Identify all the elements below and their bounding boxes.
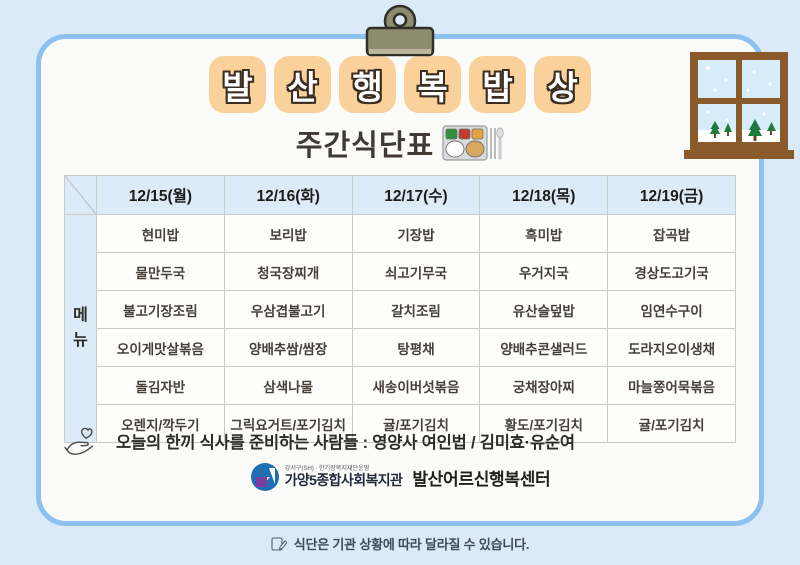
menu-cell: 양배추콘샐러드 xyxy=(480,329,608,367)
menu-cell: 궁채장아찌 xyxy=(480,367,608,405)
column-header-wed: 12/17(수) xyxy=(352,176,480,215)
title-char-6: 상 xyxy=(534,56,591,113)
menu-cell: 새송이버섯볶음 xyxy=(352,367,480,405)
poster-subtitle-row: 주간식단표 xyxy=(36,122,764,164)
title-char-4: 복 xyxy=(404,56,461,113)
title-char-1: 발 xyxy=(209,56,266,113)
table-corner-cell xyxy=(65,176,97,215)
title-char-5: 밥 xyxy=(469,56,526,113)
poster-subtitle: 주간식단표 xyxy=(296,122,434,164)
title-char-2: 산 xyxy=(274,56,331,113)
menu-cell: 청국장찌개 xyxy=(224,253,352,291)
pencil-edit-icon xyxy=(271,536,287,552)
menu-cell: 현미밥 xyxy=(97,215,225,253)
menu-cell: 양배추쌈/쌈장 xyxy=(224,329,352,367)
table-row: 메 뉴 현미밥 보리밥 기장밥 흑미밥 잡곡밥 xyxy=(65,215,736,253)
menu-cell: 우거지국 xyxy=(480,253,608,291)
menu-poster: 발 산 행 복 밥 상 주간식단표 xyxy=(0,0,800,565)
menu-cell: 잡곡밥 xyxy=(608,215,736,253)
title-char-3: 행 xyxy=(339,56,396,113)
preparers-text: 오늘의 한끼 식사를 준비하는 사람들 : 영양사 여인법 / 김미효·유순여 xyxy=(116,429,575,453)
menu-cell: 마늘쫑어묵볶음 xyxy=(608,367,736,405)
organization-line: 강서구(SH) · 한기장복지재단운영 가양5종합사회복지관 발산어르신행복센터 xyxy=(36,462,764,492)
diagonal-slash-icon xyxy=(65,176,96,214)
disclaimer-text: 식단은 기관 상황에 따라 달라질 수 있습니다. xyxy=(294,534,530,553)
menu-cell: 유산슬덮밥 xyxy=(480,291,608,329)
menu-cell: 도라지오이생채 xyxy=(608,329,736,367)
table-row: 물만두국 청국장찌개 쇠고기무국 우거지국 경상도고기국 xyxy=(65,253,736,291)
menu-cell: 불고기장조림 xyxy=(97,291,225,329)
card-content: 발 산 행 복 밥 상 주간식단표 xyxy=(36,34,764,526)
menu-cell: 쇠고기무국 xyxy=(352,253,480,291)
menu-cell: 임연수구이 xyxy=(608,291,736,329)
hand-holding-heart-icon xyxy=(64,426,106,456)
preparers-line: 오늘의 한끼 식사를 준비하는 사람들 : 영양사 여인법 / 김미효·유순여 xyxy=(64,426,736,456)
poster-title: 발 산 행 복 밥 상 xyxy=(36,56,764,113)
table-row: 불고기장조림 우삼겹불고기 갈치조림 유산슬덮밥 임연수구이 xyxy=(65,291,736,329)
column-header-mon: 12/15(월) xyxy=(97,176,225,215)
menu-cell: 우삼겹불고기 xyxy=(224,291,352,329)
menu-cell: 탕평채 xyxy=(352,329,480,367)
column-header-tue: 12/16(화) xyxy=(224,176,352,215)
menu-cell: 기장밥 xyxy=(352,215,480,253)
menu-cell: 갈치조림 xyxy=(352,291,480,329)
menu-cell: 흑미밥 xyxy=(480,215,608,253)
column-header-thu: 12/18(목) xyxy=(480,176,608,215)
row-label-char-2: 뉴 xyxy=(65,329,96,354)
disclaimer-line: 식단은 기관 상황에 따라 달라질 수 있습니다. xyxy=(0,534,800,553)
menu-cell: 보리밥 xyxy=(224,215,352,253)
menu-cell: 물만두국 xyxy=(97,253,225,291)
menu-cell: 오이게맛살볶음 xyxy=(97,329,225,367)
menu-cell: 경상도고기국 xyxy=(608,253,736,291)
table-row: 돌김자반 삼색나물 새송이버섯볶음 궁채장아찌 마늘쫑어묵볶음 xyxy=(65,367,736,405)
table-row: 오이게맛살볶음 양배추쌈/쌈장 탕평채 양배추콘샐러드 도라지오이생채 xyxy=(65,329,736,367)
binder-clip-icon xyxy=(358,4,442,60)
korean-meal-tray-icon xyxy=(442,124,504,162)
column-header-fri: 12/19(금) xyxy=(608,176,736,215)
logo-mark-icon xyxy=(250,462,280,492)
row-label-menu: 메 뉴 xyxy=(65,215,97,443)
senior-center-name: 발산어르신행복센터 xyxy=(412,465,550,490)
logo-text-block: 강서구(SH) · 한기장복지재단운영 가양5종합사회복지관 xyxy=(285,466,403,487)
welfare-center-logo: 강서구(SH) · 한기장복지재단운영 가양5종합사회복지관 xyxy=(250,462,403,492)
table-header-row: 12/15(월) 12/16(화) 12/17(수) 12/18(목) 12/1… xyxy=(65,176,736,215)
menu-cell: 삼색나물 xyxy=(224,367,352,405)
row-label-char-1: 메 xyxy=(65,304,96,329)
menu-cell: 돌김자반 xyxy=(97,367,225,405)
logo-center-name: 가양5종합사회복지관 xyxy=(285,473,403,488)
weekly-menu-table: 12/15(월) 12/16(화) 12/17(수) 12/18(목) 12/1… xyxy=(64,175,736,443)
